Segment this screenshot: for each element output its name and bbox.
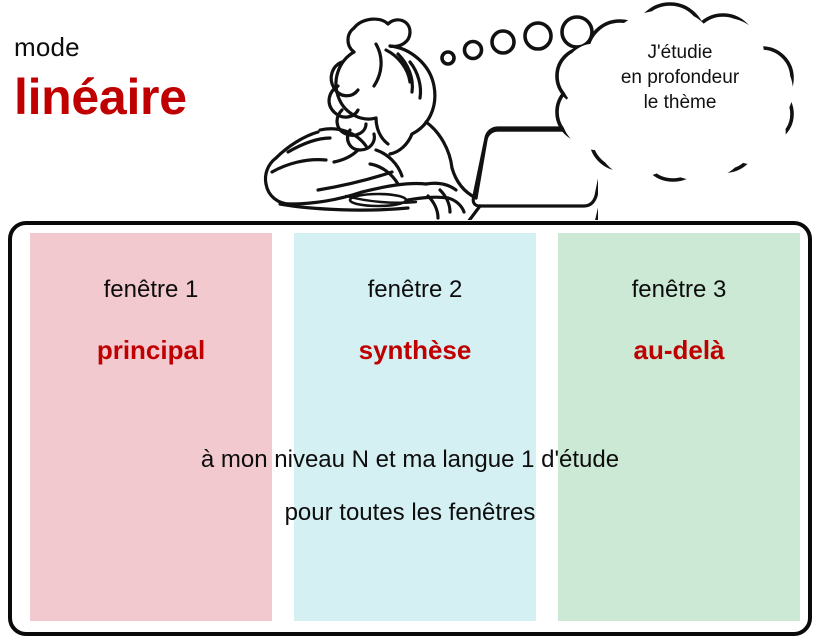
window-panel-2[interactable]: fenêtre 2 synthèse (294, 233, 536, 621)
mode-header: mode linéaire (14, 30, 274, 126)
window-panel-3-name: au-delà (558, 334, 800, 366)
window-panel-2-name: synthèse (294, 334, 536, 366)
window-panel-1-name: principal (30, 334, 272, 366)
thought-dot-4 (525, 23, 551, 49)
window-panel-3-head: fenêtre 3 (558, 275, 800, 305)
mode-value: linéaire (14, 68, 274, 126)
bubble-line-1: J'étudie (580, 40, 780, 65)
thought-bubble-text: J'étudie en profondeur le thème (580, 40, 780, 115)
thought-dot-1 (442, 52, 454, 64)
mode-label: mode (14, 30, 274, 64)
thought-dot-2 (465, 42, 482, 59)
bubble-line-3: le thème (580, 90, 780, 115)
thought-dot-3 (492, 31, 514, 53)
bubble-line-2: en profondeur (580, 65, 780, 90)
window-panel-1[interactable]: fenêtre 1 principal (30, 233, 272, 621)
window-panel-1-head: fenêtre 1 (30, 275, 272, 305)
window-panel-3[interactable]: fenêtre 3 au-delà (558, 233, 800, 621)
window-panel-2-head: fenêtre 2 (294, 275, 536, 305)
